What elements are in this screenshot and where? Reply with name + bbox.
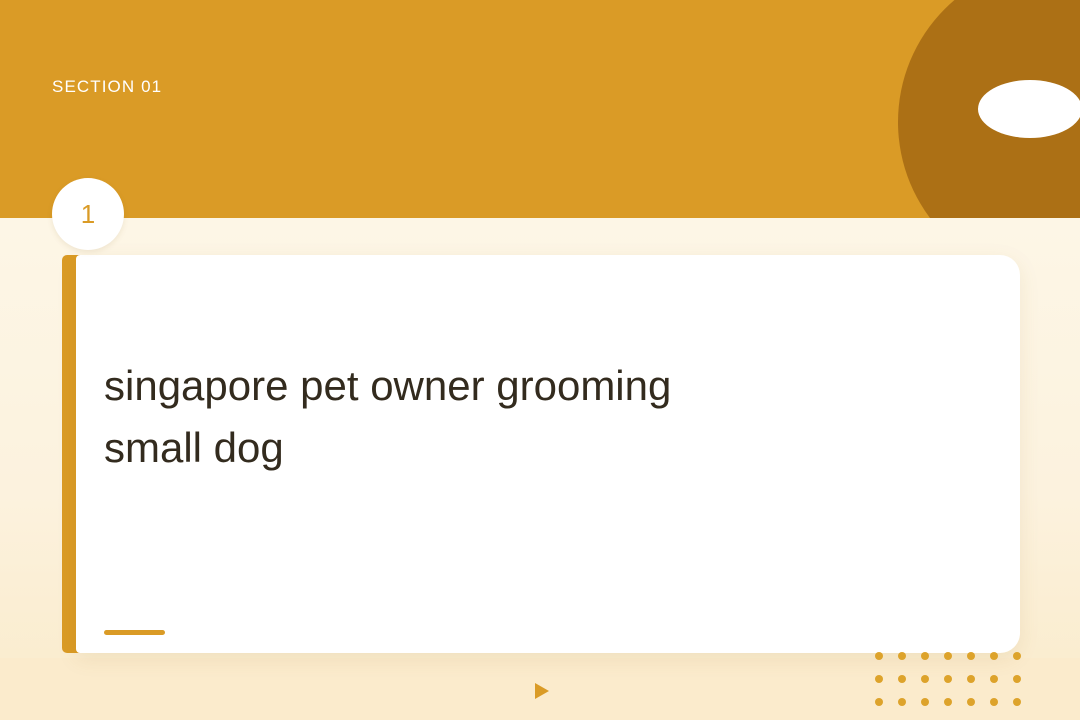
title-underline [104,630,165,635]
grid-dot [898,698,906,706]
grid-dot [921,675,929,683]
grid-dot [967,698,975,706]
slide-number-badge-value: 1 [81,201,95,227]
grid-dot [898,675,906,683]
grid-dot [967,675,975,683]
grid-dot [944,698,952,706]
grid-dot [1013,675,1021,683]
dot-grid-decoration [875,652,1036,720]
grid-dot [990,698,998,706]
grid-dot [921,698,929,706]
presentation-slide: SECTION 01 1 singapore pet owner groomin… [0,0,1080,720]
slide-number-badge: 1 [52,178,124,250]
grid-dot [944,675,952,683]
grid-dot [875,698,883,706]
grid-dot [944,652,952,660]
content-card: singapore pet owner grooming small dog [76,255,1020,653]
section-label: SECTION 01 [52,77,162,97]
grid-dot [990,652,998,660]
grid-dot [1013,698,1021,706]
play-triangle-icon[interactable] [535,683,549,699]
grid-dot [875,675,883,683]
grid-dot [990,675,998,683]
grid-dot [921,652,929,660]
grid-dot [898,652,906,660]
page-title: singapore pet owner grooming small dog [104,355,724,479]
grid-dot [875,652,883,660]
decorative-ellipse-icon [978,80,1080,138]
grid-dot [967,652,975,660]
grid-dot [1013,652,1021,660]
